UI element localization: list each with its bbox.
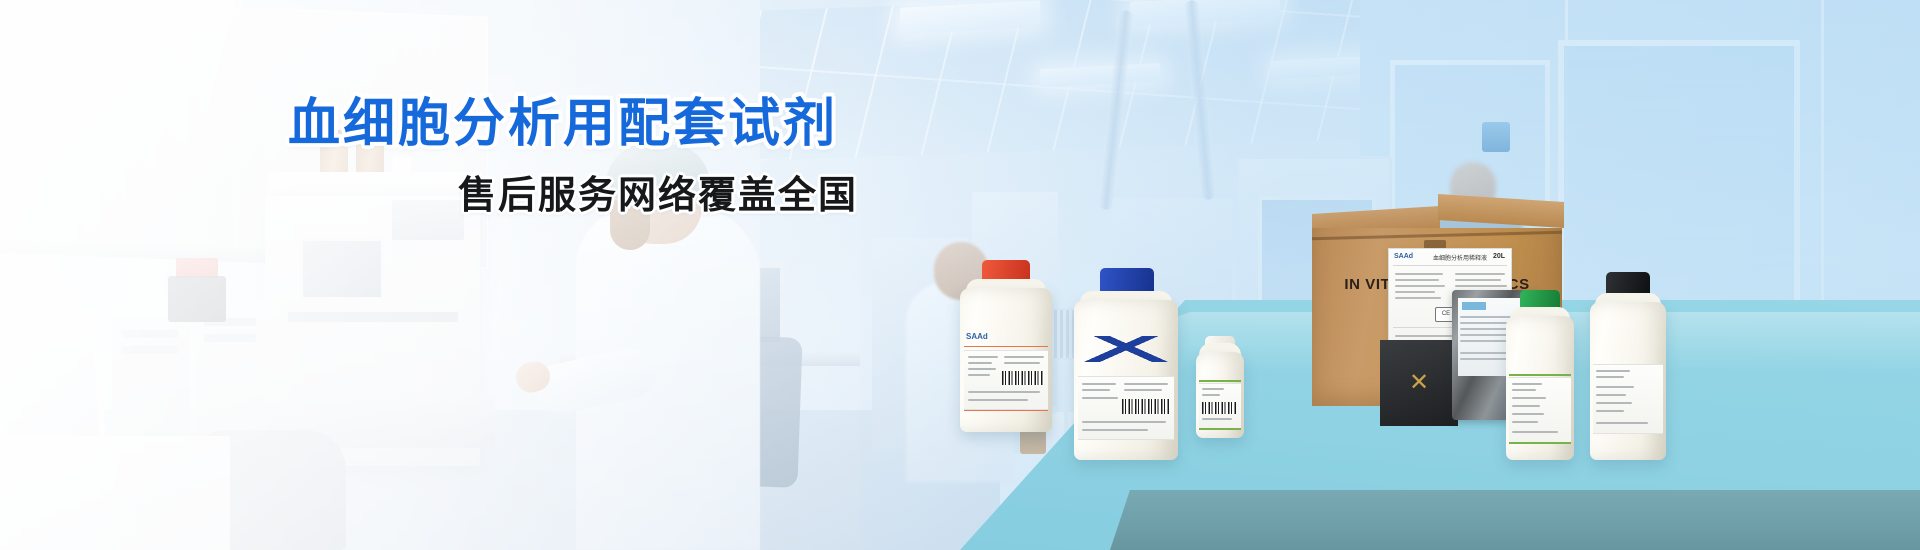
bottle-label	[1509, 377, 1571, 443]
bottle-label	[1199, 383, 1241, 429]
label-text-line	[1395, 273, 1443, 275]
label-text-line	[1124, 383, 1168, 385]
label-title: 血细胞分析用稀释液	[1433, 253, 1487, 262]
barcode	[1002, 371, 1044, 385]
label-text-line	[1395, 297, 1441, 299]
label-text-line	[1124, 389, 1162, 391]
carton-logo: ✕	[1404, 368, 1434, 398]
bottle-accent-rule	[964, 410, 1048, 411]
rinse-bottle-black-cap	[1590, 302, 1666, 460]
label-text-line	[1395, 291, 1435, 293]
pouch-text-line	[1460, 358, 1510, 360]
label-text-line	[1082, 397, 1118, 399]
label-text-line	[1455, 285, 1507, 287]
bottle-label	[1593, 364, 1663, 434]
hero-banner: IN VITRO DIAGNOSTICS SAAd 血细胞分析用稀释液 20L …	[0, 0, 1920, 550]
label-text-line	[1082, 383, 1116, 385]
banner-subheadline: 售后服务网络覆盖全国	[458, 174, 858, 218]
cleanser-bottle-green-cap	[1506, 316, 1574, 460]
label-text-line	[1202, 388, 1224, 390]
label-text-line	[1512, 383, 1542, 385]
label-text-line	[968, 399, 1028, 401]
label-text-line	[1596, 422, 1648, 424]
bottle-label	[1078, 376, 1174, 440]
label-text-line	[968, 362, 992, 364]
bottle-label	[964, 350, 1048, 410]
label-volume: 20L	[1493, 253, 1505, 260]
label-text-line	[968, 368, 996, 370]
label-divider	[1393, 265, 1507, 266]
label-text-line	[1596, 386, 1634, 388]
label-text-line	[1395, 285, 1445, 287]
label-text-line	[1202, 418, 1232, 420]
bottle-accent-rule	[964, 346, 1048, 347]
diluent-bottle-red-cap: SAAd	[960, 288, 1052, 432]
label-accent-line	[1199, 428, 1241, 430]
banner-headline: 血细胞分析用配套试剂	[288, 96, 838, 152]
lyse-bottle-blue-cap	[1074, 300, 1178, 460]
bottle-chevron-stripe	[1074, 336, 1178, 362]
label-text-line	[1004, 362, 1040, 364]
label-text-line	[1082, 429, 1148, 431]
label-text-line	[1455, 273, 1505, 275]
barcode	[1122, 399, 1170, 414]
label-text-line	[1082, 389, 1110, 391]
label-text-line	[1596, 370, 1630, 372]
barcode	[1202, 402, 1236, 414]
label-text-line	[1596, 402, 1632, 404]
label-text-line	[1512, 431, 1558, 433]
label-text-line	[1512, 421, 1538, 423]
label-text-line	[1512, 389, 1536, 391]
label-text-line	[1512, 405, 1540, 407]
label-brand: SAAd	[1394, 253, 1413, 260]
label-text-line	[1596, 410, 1624, 412]
label-text-line	[1512, 413, 1544, 415]
label-accent-line	[1509, 374, 1571, 376]
label-text-line	[1512, 397, 1546, 399]
label-accent-line	[1199, 380, 1241, 382]
label-text-line	[1395, 279, 1439, 281]
label-accent-line	[1509, 442, 1571, 444]
label-text-line	[1596, 394, 1626, 396]
pouch-text-line	[1460, 334, 1508, 336]
bottle-brand-mark: SAAd	[966, 332, 988, 341]
label-text-line	[968, 374, 990, 376]
pouch-color-chip	[1462, 302, 1486, 310]
label-text-line	[1004, 356, 1044, 358]
small-vial-white-cap	[1196, 352, 1244, 438]
label-text-line	[1082, 421, 1166, 423]
label-text-line	[968, 356, 998, 358]
label-text-line	[1455, 279, 1501, 281]
label-text-line	[1596, 376, 1624, 378]
label-text-line	[1202, 394, 1220, 396]
label-text-line	[968, 391, 1040, 393]
